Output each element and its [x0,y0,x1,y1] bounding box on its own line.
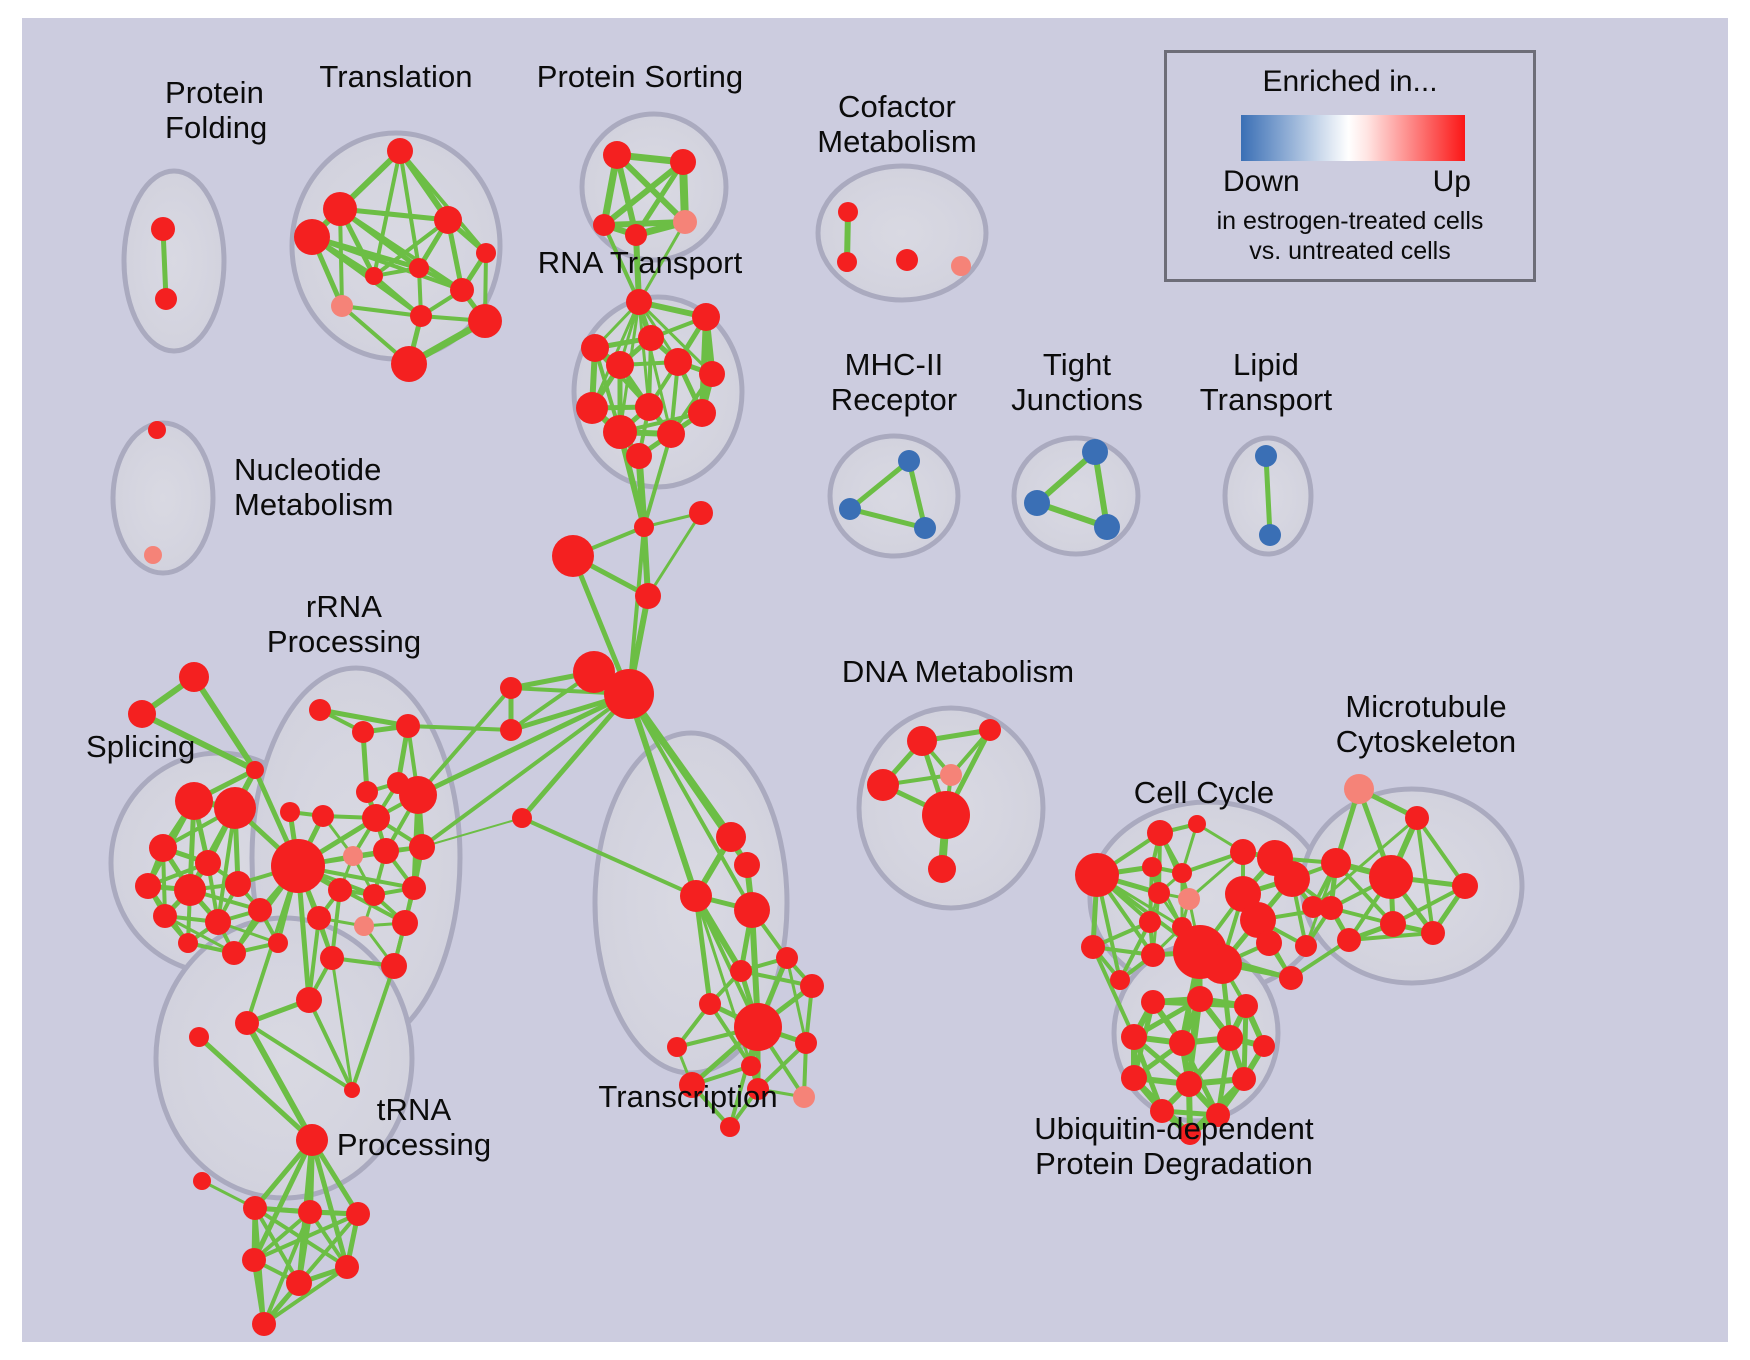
cluster-label-translation: Translation [319,60,472,95]
network-node[interactable] [148,421,166,439]
cluster-label-ubiquitin-protein-degradation: Ubiquitin-dependent Protein Degradation [1034,1112,1313,1181]
legend-subtitle-line-2: vs. untreated cells [1249,237,1451,265]
network-node[interactable] [1253,1035,1275,1057]
network-node[interactable] [720,1117,740,1137]
network-node[interactable] [175,782,213,820]
network-node[interactable] [1188,815,1206,833]
network-node[interactable] [323,192,357,226]
network-node[interactable] [410,305,432,327]
network-node[interactable] [593,214,615,236]
network-node[interactable] [657,420,685,448]
cluster-hull-nucleotide-metabolism [113,423,213,573]
network-node[interactable] [1024,490,1050,516]
network-node[interactable] [144,546,162,564]
network-node[interactable] [381,953,407,979]
cluster-hull-mhc-ii-receptor [830,436,958,556]
network-node[interactable] [1256,930,1282,956]
network-node[interactable] [1234,994,1258,1018]
network-node[interactable] [626,443,652,469]
network-node[interactable] [271,839,325,893]
network-node[interactable] [907,726,937,756]
network-node[interactable] [634,517,654,537]
network-node[interactable] [500,719,522,741]
network-node[interactable] [741,1056,761,1076]
network-node[interactable] [296,987,322,1013]
network-node[interactable] [222,941,246,965]
network-node[interactable] [1121,1065,1147,1091]
network-node[interactable] [387,138,413,164]
network-node[interactable] [734,892,770,928]
network-node[interactable] [500,677,522,699]
network-node[interactable] [896,249,918,271]
cluster-label-mhc-ii-receptor: MHC-II Receptor [831,348,958,417]
network-node[interactable] [409,258,429,278]
network-node[interactable] [638,325,664,351]
network-node[interactable] [604,669,654,719]
cluster-label-nucleotide-metabolism: Nucleotide Metabolism [234,453,394,522]
network-node[interactable] [450,278,474,302]
network-node[interactable] [795,1032,817,1054]
network-node[interactable] [1279,966,1303,990]
cluster-hull-cofactor-metabolism [818,166,986,300]
network-node[interactable] [1082,439,1108,465]
network-node[interactable] [153,904,177,928]
network-node[interactable] [373,838,399,864]
network-node[interactable] [1148,882,1170,904]
legend-colorbar [1241,115,1465,161]
network-node[interactable] [625,224,647,246]
network-node[interactable] [307,906,331,930]
network-node[interactable] [193,1172,211,1190]
legend-high-label: Up [1433,165,1471,199]
network-node[interactable] [1172,863,1192,883]
network-node[interactable] [214,787,256,829]
network-node[interactable] [280,802,300,822]
legend-subtitle: in estrogen-treated cellsvs. untreated c… [1167,207,1533,266]
cluster-label-cell-cycle: Cell Cycle [1134,776,1275,811]
network-node[interactable] [603,415,637,449]
network-node[interactable] [135,873,161,899]
network-node[interactable] [1321,848,1351,878]
network-node[interactable] [914,517,936,539]
network-node[interactable] [1217,1025,1243,1051]
network-node[interactable] [898,450,920,472]
network-node[interactable] [734,852,760,878]
network-node[interactable] [195,850,221,876]
network-node[interactable] [409,834,435,860]
network-node[interactable] [243,1196,267,1220]
network-node[interactable] [1141,990,1165,1014]
network-node[interactable] [1230,839,1256,865]
network-node[interactable] [354,916,374,936]
network-node[interactable] [268,933,288,953]
network-node[interactable] [776,947,798,969]
network-node[interactable] [363,884,385,906]
network-node[interactable] [365,267,383,285]
cluster-label-trna-processing: tRNA Processing [337,1093,491,1162]
network-node[interactable] [838,202,858,222]
network-node[interactable] [1147,820,1173,846]
network-node[interactable] [189,1027,209,1047]
network-node[interactable] [235,1011,259,1035]
network-node[interactable] [1344,774,1374,804]
cluster-label-transcription: Transcription [598,1080,777,1115]
network-node[interactable] [626,289,652,315]
network-node[interactable] [1369,855,1413,899]
cluster-label-protein-folding: Protein Folding [165,76,267,145]
network-node[interactable] [1142,857,1162,877]
network-node[interactable] [716,822,746,852]
network-node[interactable] [730,960,752,982]
network-node[interactable] [294,219,330,255]
network-node[interactable] [178,933,198,953]
cluster-label-cofactor-metabolism: Cofactor Metabolism [817,90,977,159]
network-node[interactable] [179,662,209,692]
network-node[interactable] [434,206,462,234]
cluster-label-splicing: Splicing [86,730,195,765]
network-node[interactable] [1075,853,1119,897]
network-node[interactable] [248,898,272,922]
network-node[interactable] [1110,970,1130,990]
cluster-label-protein-sorting: Protein Sorting [537,60,744,95]
network-node[interactable] [979,719,1001,741]
network-node[interactable] [839,498,861,520]
network-node[interactable] [252,1312,276,1336]
cluster-hull-protein-folding [124,171,224,351]
network-node[interactable] [128,700,156,728]
network-node[interactable] [667,1037,687,1057]
network-node[interactable] [174,874,206,906]
network-node[interactable] [1121,1024,1147,1050]
network-node[interactable] [635,583,661,609]
legend-panel: Enriched in... Down Up in estrogen-treat… [1164,50,1536,282]
network-node[interactable] [606,351,634,379]
network-node[interactable] [635,393,663,421]
network-node[interactable] [699,993,721,1015]
network-node[interactable] [312,805,334,827]
network-node[interactable] [1259,524,1281,546]
network-node[interactable] [951,256,971,276]
network-node[interactable] [552,535,594,577]
edge [418,694,629,795]
network-node[interactable] [320,946,344,970]
network-node[interactable] [689,501,713,525]
network-node[interactable] [800,974,824,998]
cluster-label-microtubule-cytoskeleton: Microtubule Cytoskeleton [1336,690,1516,759]
network-node[interactable] [362,804,390,832]
network-node[interactable] [603,141,631,169]
network-node[interactable] [1421,921,1445,945]
network-node[interactable] [837,252,857,272]
network-node[interactable] [396,714,420,738]
network-node[interactable] [664,348,692,376]
cluster-label-rna-transport: RNA Transport [538,246,743,281]
network-node[interactable] [298,1200,322,1224]
network-node[interactable] [1232,1067,1256,1091]
network-node[interactable] [343,846,363,866]
network-node[interactable] [468,304,502,338]
network-node[interactable] [1141,943,1165,967]
network-node[interactable] [331,295,353,317]
legend-subtitle-line-1: in estrogen-treated cells [1217,207,1484,235]
network-node[interactable] [1319,896,1343,920]
network-node[interactable] [1169,1030,1195,1056]
network-node[interactable] [1380,911,1406,937]
network-node[interactable] [1178,888,1200,910]
cluster-label-lipid-transport: Lipid Transport [1200,348,1332,417]
network-node[interactable] [328,878,352,902]
network-background: Protein FoldingTranslationProtein Sortin… [22,18,1728,1342]
network-node[interactable] [581,334,609,362]
network-node[interactable] [1081,935,1105,959]
network-node[interactable] [670,149,696,175]
network-node[interactable] [1139,911,1161,933]
network-node[interactable] [402,876,426,900]
legend-title: Enriched in... [1167,65,1533,99]
network-node[interactable] [155,288,177,310]
cluster-label-rrna-processing: rRNA Processing [267,590,421,659]
network-node[interactable] [793,1086,815,1108]
network-node[interactable] [1337,928,1361,952]
network-node[interactable] [335,1255,359,1279]
network-node[interactable] [1094,514,1120,540]
network-node[interactable] [512,808,532,828]
network-node[interactable] [399,776,437,814]
cluster-label-tight-junctions: Tight Junctions [1011,348,1143,417]
network-node[interactable] [392,910,418,936]
network-node[interactable] [149,834,177,862]
network-node[interactable] [940,764,962,786]
network-node[interactable] [576,392,608,424]
network-node[interactable] [1202,944,1242,984]
network-node[interactable] [309,699,331,721]
network-node[interactable] [296,1124,328,1156]
network-node[interactable] [391,346,427,382]
network-node[interactable] [680,880,712,912]
network-node[interactable] [922,791,970,839]
network-node[interactable] [286,1270,312,1296]
network-node[interactable] [928,855,956,883]
network-node[interactable] [476,243,496,263]
network-node[interactable] [734,1003,782,1051]
network-node[interactable] [242,1248,266,1272]
network-node[interactable] [1452,873,1478,899]
network-node[interactable] [151,217,175,241]
figure-canvas: Protein FoldingTranslationProtein Sortin… [0,0,1750,1360]
legend-low-label: Down [1223,165,1300,199]
network-node[interactable] [1405,806,1429,830]
network-node[interactable] [1176,1071,1202,1097]
network-node[interactable] [352,721,374,743]
network-node[interactable] [1274,861,1310,897]
network-node[interactable] [699,361,725,387]
network-node[interactable] [1187,986,1213,1012]
network-node[interactable] [673,210,697,234]
network-node[interactable] [346,1202,370,1226]
network-node[interactable] [867,769,899,801]
network-node[interactable] [205,909,231,935]
cluster-label-dna-metabolism: DNA Metabolism [842,655,1074,690]
network-node[interactable] [1255,445,1277,467]
network-node[interactable] [356,781,378,803]
network-node[interactable] [688,399,716,427]
network-node[interactable] [1295,935,1317,957]
network-node[interactable] [225,871,251,897]
network-node[interactable] [692,303,720,331]
network-node[interactable] [246,761,264,779]
